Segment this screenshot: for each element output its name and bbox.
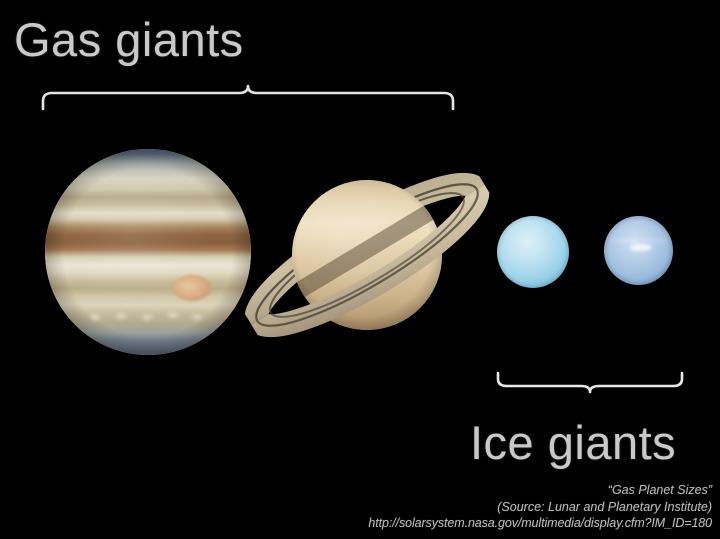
gas-giants-heading: Gas giants	[14, 12, 244, 68]
planet-saturn	[232, 100, 504, 400]
slide-canvas: Gas giants	[0, 0, 720, 539]
jupiter-limb-shading	[45, 149, 251, 355]
credit-title: “Gas Planet Sizes”	[242, 482, 712, 499]
saturn-rings-front	[232, 100, 504, 400]
credit-source: (Source: Lunar and Planetary Institute)	[242, 499, 712, 516]
planet-jupiter	[45, 149, 251, 355]
planet-uranus	[497, 216, 569, 288]
planet-neptune	[604, 216, 673, 285]
credit-block: “Gas Planet Sizes” (Source: Lunar and Pl…	[242, 482, 712, 532]
credit-url: http://solarsystem.nasa.gov/multimedia/d…	[242, 515, 712, 532]
neptune-limb-shading	[604, 216, 673, 285]
uranus-limb-shading	[497, 216, 569, 288]
ice-giants-brace-icon	[492, 370, 688, 396]
ice-giants-heading: Ice giants	[470, 415, 676, 471]
